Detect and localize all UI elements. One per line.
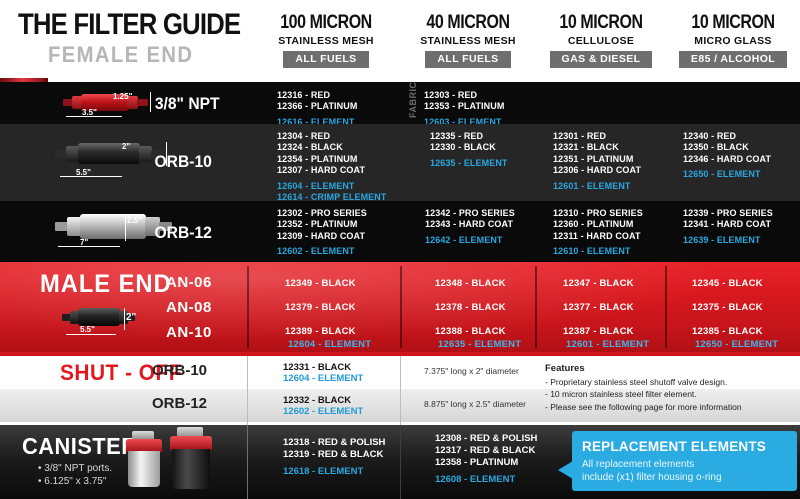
table-row: 5.5" 2" ORB-10 12304 - RED 12324 - BLACK… xyxy=(0,124,800,201)
dimension-line xyxy=(125,215,126,241)
element-part: 12608 - ELEMENT xyxy=(435,474,515,485)
element-part: 12650 - ELEMENT xyxy=(683,169,761,179)
feature-item: - 10 micron stainless steel filter eleme… xyxy=(545,389,697,399)
part-numbers-canister-100-micron: 12318 - RED & POLISH 12319 - RED & BLACK… xyxy=(283,437,385,478)
element-part-40-micron: 12635 - ELEMENT xyxy=(438,339,521,350)
dimension-shutoff-orb12: 8.875" long x 2.5" diameter xyxy=(424,399,526,409)
features-block: Features - Proprietary stainless steel s… xyxy=(545,362,742,413)
dimension-shutoff-orb10: 7.375" long x 2" diameter xyxy=(424,366,519,376)
element-part: 12604 - ELEMENT 12614 - CRIMP ELEMENT xyxy=(277,181,386,202)
dimension-diameter: 2" xyxy=(122,142,130,151)
column-divider xyxy=(400,266,402,348)
dimension-line xyxy=(60,176,122,177)
element-part: 12618 - ELEMENT xyxy=(283,466,363,477)
column-divider xyxy=(247,425,248,499)
column-media: STAINLESS MESH xyxy=(401,35,535,47)
part-100-micron: 12349 - BLACK xyxy=(285,278,356,289)
callout-title: REPLACEMENT ELEMENTS xyxy=(582,439,766,454)
column-divider xyxy=(535,266,537,348)
dimension-line xyxy=(66,334,116,335)
column-micron: 40 MICRON xyxy=(412,12,525,34)
dimension-diameter: 2" xyxy=(126,312,136,323)
part-list: 12316 - RED 12366 - PLATINUM xyxy=(277,90,357,111)
product-photo-canister-polish xyxy=(124,431,164,487)
part-number: 12332 - BLACK xyxy=(283,395,351,406)
part-numbers-40-micron: 12303 - RED 12353 - PLATINUM 12603 - ELE… xyxy=(424,90,504,128)
column-micron: 10 MICRON xyxy=(546,12,655,34)
part-numbers-10-micron-micro-glass: 12339 - PRO SERIES 12341 - HARD COAT 126… xyxy=(683,208,773,246)
part-40-micron: 12378 - BLACK xyxy=(435,302,506,313)
column-media: STAINLESS MESH xyxy=(252,35,400,47)
part-numbers-100-micron: 12316 - RED 12366 - PLATINUM 12616 - ELE… xyxy=(277,90,357,128)
part-list: 12310 - PRO SERIES 12360 - PLATINUM 1231… xyxy=(553,208,643,241)
element-part: 12602 - ELEMENT xyxy=(283,406,363,417)
element-part-100-micron: 12604 - ELEMENT xyxy=(288,339,371,350)
callout-tail xyxy=(558,461,573,479)
row-label-orb12: ORB-12 xyxy=(154,223,211,243)
row-label-38npt: 3/8" NPT xyxy=(155,94,220,114)
element-part: 12639 - ELEMENT xyxy=(683,235,761,245)
section-label-canister: CANISTER xyxy=(22,433,137,460)
section-label-female-end: FEMALE END xyxy=(48,42,193,68)
part-10-micron-micro-glass: 12375 - BLACK xyxy=(692,302,763,313)
row-label-an06: AN-06 xyxy=(166,274,212,291)
product-photo-canister-black xyxy=(168,427,214,489)
column-fuel-badge: ALL FUELS xyxy=(283,51,368,68)
element-part: 12610 - ELEMENT xyxy=(553,246,631,256)
part-100-micron: 12379 - BLACK xyxy=(285,302,356,313)
dimension-length: 7" xyxy=(80,238,88,247)
column-divider xyxy=(247,356,248,425)
part-list: 12339 - PRO SERIES 12341 - HARD COAT xyxy=(683,208,773,229)
male-end-section: MALE END 5.5" 2" AN-06 AN-08 AN-10 12349… xyxy=(0,262,800,352)
column-micron: 100 MICRON xyxy=(264,12,388,34)
part-10-micron-cellulose: 12387 - BLACK xyxy=(563,326,634,337)
part-list: 12340 - RED 12350 - BLACK 12346 - HARD C… xyxy=(683,131,771,164)
element-part: 12635 - ELEMENT xyxy=(430,158,508,168)
dimension-line xyxy=(58,246,120,247)
column-micron: 10 MICRON xyxy=(677,12,790,34)
filter-guide-page: THE FILTER GUIDE FEMALE END 100 MICRON S… xyxy=(0,0,800,499)
part-list: 12342 - PRO SERIES 12343 - HARD COAT xyxy=(425,208,515,229)
dimension-diameter: 2.5" xyxy=(127,216,142,225)
row-label-an10: AN-10 xyxy=(166,324,212,341)
canister-bullet: • 6.125" x 3.75" xyxy=(38,475,106,488)
column-header-10-micron-micro-glass: 10 MICRON MICRO GLASS E85 / ALCOHOL xyxy=(666,12,800,68)
canister-bullet: • 3/8" NPT ports. xyxy=(38,462,112,475)
fabric-note: FABRIC xyxy=(408,90,418,118)
shutoff-section: SHUT - OFF ORB-10 ORB-12 12331 - BLACK 1… xyxy=(0,352,800,425)
part-numbers-40-micron: 12342 - PRO SERIES 12343 - HARD COAT 126… xyxy=(425,208,515,246)
row-label-shutoff-orb12: ORB-12 xyxy=(152,395,207,412)
dimension-diameter: 1.25" xyxy=(113,92,132,101)
column-header-100-micron: 100 MICRON STAINLESS MESH ALL FUELS xyxy=(252,12,400,68)
dimension-length: 5.5" xyxy=(80,325,95,334)
column-media: CELLULOSE xyxy=(536,35,666,47)
feature-item: - Please see the following page for more… xyxy=(545,402,742,412)
column-divider xyxy=(247,266,249,348)
column-divider xyxy=(400,425,401,499)
part-numbers-40-micron: 12335 - RED 12330 - BLACK 12635 - ELEMEN… xyxy=(430,131,508,169)
dimension-line xyxy=(150,92,151,112)
part-list: 12301 - RED 12321 - BLACK 12351 - PLATIN… xyxy=(553,131,641,175)
part-100-micron: 12389 - BLACK xyxy=(285,326,356,337)
part-10-micron-micro-glass: 12345 - BLACK xyxy=(692,278,763,289)
part-10-micron-cellulose: 12347 - BLACK xyxy=(563,278,634,289)
feature-item: - Proprietary stainless steel shutoff va… xyxy=(545,377,727,387)
part-shutoff-orb12: 12332 - BLACK 12602 - ELEMENT xyxy=(283,395,363,417)
filter-drawing-38npt xyxy=(63,91,149,113)
part-numbers-100-micron: 12302 - PRO SERIES 12352 - PLATINUM 1230… xyxy=(277,208,367,258)
header: THE FILTER GUIDE FEMALE END 100 MICRON S… xyxy=(0,0,800,82)
column-header-40-micron: 40 MICRON STAINLESS MESH ALL FUELS xyxy=(401,12,535,68)
part-list: 12318 - RED & POLISH 12319 - RED & BLACK xyxy=(283,437,385,460)
section-label-male-end: MALE END xyxy=(40,270,172,299)
element-part-10-micron-micro-glass: 12650 - ELEMENT xyxy=(695,339,778,350)
dimension-length: 5.5" xyxy=(76,168,91,177)
row-label-shutoff-orb10: ORB-10 xyxy=(152,362,207,379)
part-list: 12304 - RED 12324 - BLACK 12354 - PLATIN… xyxy=(277,131,365,175)
part-40-micron: 12348 - BLACK xyxy=(435,278,506,289)
features-title: Features xyxy=(545,363,585,374)
page-title: THE FILTER GUIDE xyxy=(18,8,240,42)
part-shutoff-orb10: 12331 - BLACK 12604 - ELEMENT xyxy=(283,362,363,384)
row-label-orb10: ORB-10 xyxy=(154,152,211,172)
column-divider xyxy=(400,356,401,425)
part-numbers-10-micron-micro-glass: 12340 - RED 12350 - BLACK 12346 - HARD C… xyxy=(683,131,771,181)
female-end-table: 3.5" 1.25" 3/8" NPT 12316 - RED 12366 - … xyxy=(0,82,800,262)
element-part: 12604 - ELEMENT xyxy=(283,373,363,384)
part-numbers-10-micron-cellulose: 12310 - PRO SERIES 12360 - PLATINUM 1231… xyxy=(553,208,643,258)
table-row: 7" 2.5" ORB-12 12302 - PRO SERIES 12352 … xyxy=(0,201,800,262)
element-part: 12642 - ELEMENT xyxy=(425,235,503,245)
element-part: 12602 - ELEMENT xyxy=(277,246,355,256)
dimension-length: 3.5" xyxy=(82,108,97,117)
part-40-micron: 12388 - BLACK xyxy=(435,326,506,337)
part-list: 12335 - RED 12330 - BLACK xyxy=(430,131,496,152)
column-fuel-badge: GAS & DIESEL xyxy=(550,51,653,68)
replacement-elements-callout: REPLACEMENT ELEMENTS All replacement ele… xyxy=(572,431,797,491)
row-label-an08: AN-08 xyxy=(166,299,212,316)
column-media: MICRO GLASS xyxy=(666,35,800,47)
part-list: 12308 - RED & POLISH 12317 - RED & BLACK… xyxy=(435,433,537,468)
column-fuel-badge: ALL FUELS xyxy=(425,51,510,68)
column-divider xyxy=(665,266,667,348)
filter-drawing-orb10 xyxy=(55,140,165,166)
part-number: 12331 - BLACK xyxy=(283,362,351,373)
part-numbers-100-micron: 12304 - RED 12324 - BLACK 12354 - PLATIN… xyxy=(277,131,386,203)
column-header-10-micron-cellulose: 10 MICRON CELLULOSE GAS & DIESEL xyxy=(536,12,666,68)
dimension-line xyxy=(124,308,125,330)
part-numbers-10-micron-cellulose: 12301 - RED 12321 - BLACK 12351 - PLATIN… xyxy=(553,131,641,192)
element-part-10-micron-cellulose: 12601 - ELEMENT xyxy=(566,339,649,350)
table-row: 3.5" 1.25" 3/8" NPT 12316 - RED 12366 - … xyxy=(0,82,800,124)
callout-body: All replacement elements include (x1) fi… xyxy=(582,458,722,484)
column-fuel-badge: E85 / ALCOHOL xyxy=(679,51,787,68)
part-list: 12303 - RED 12353 - PLATINUM xyxy=(424,90,504,111)
part-list: 12302 - PRO SERIES 12352 - PLATINUM 1230… xyxy=(277,208,367,241)
element-part: 12601 - ELEMENT xyxy=(553,181,631,191)
part-numbers-canister-10-micron-cellulose: 12308 - RED & POLISH 12317 - RED & BLACK… xyxy=(435,433,537,486)
part-10-micron-cellulose: 12377 - BLACK xyxy=(563,302,634,313)
part-10-micron-micro-glass: 12385 - BLACK xyxy=(692,326,763,337)
